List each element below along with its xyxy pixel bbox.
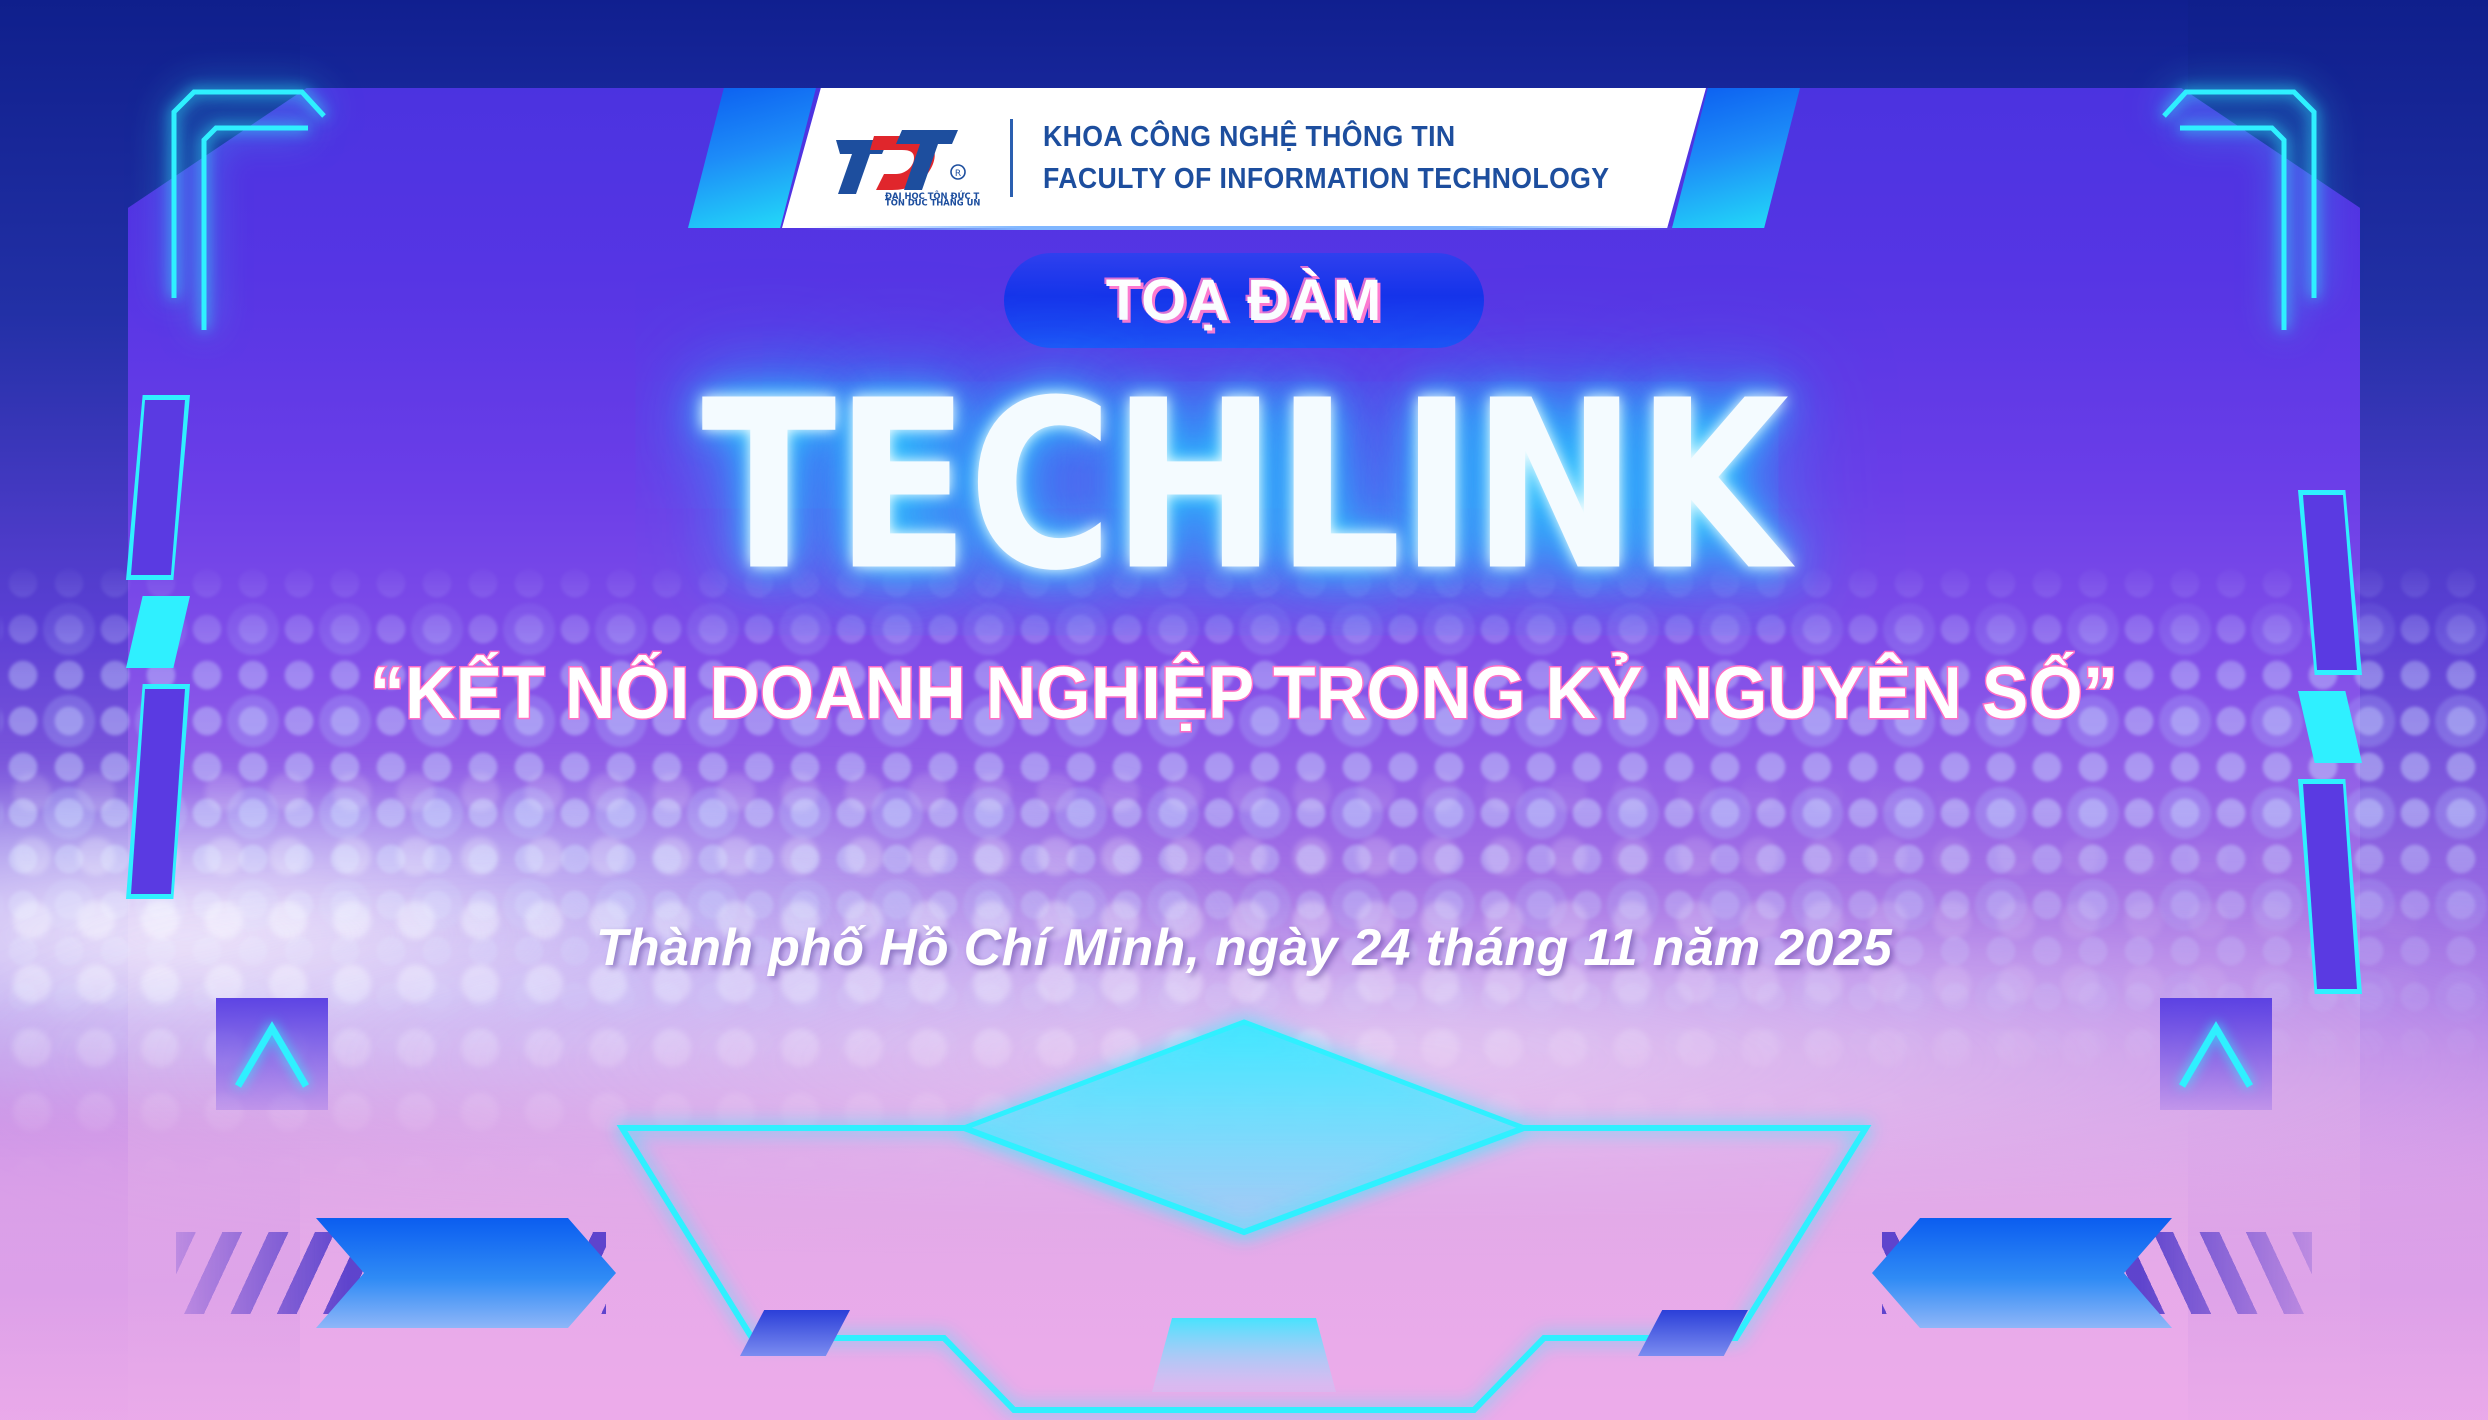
chevron-up-icon-left <box>216 998 328 1110</box>
event-type-badge: TOẠ ĐÀM <box>1004 253 1484 348</box>
logo-name-en: TON DUC THANG UNIVERSITY <box>885 198 980 207</box>
event-title: TECHLINK <box>0 376 2488 596</box>
event-title-text: TECHLINK <box>701 369 1787 602</box>
faculty-name-vi: KHOA CÔNG NGHỆ THÔNG TIN <box>1043 123 1609 152</box>
faculty-name-block: KHOA CÔNG NGHỆ THÔNG TIN FACULTY OF INFO… <box>1043 123 1659 194</box>
logo-divider <box>1010 119 1013 197</box>
chevron-up-icon-right <box>2160 998 2272 1110</box>
arrow-right-icon-left <box>176 1218 616 1328</box>
faculty-name-en: FACULTY OF INFORMATION TECHNOLOGY <box>1043 165 1609 194</box>
event-banner: R ĐẠI HỌC TÔN ĐỨC THẮNG TON DUC THANG UN… <box>0 0 2488 1420</box>
header-panel: R ĐẠI HỌC TÔN ĐỨC THẮNG TON DUC THANG UN… <box>782 88 1706 228</box>
event-date-location-text: Thành phố Hồ Chí Minh, ngày 24 tháng 11 … <box>596 919 1892 977</box>
header-underline <box>804 226 1684 230</box>
event-type-badge-label: TOẠ ĐÀM <box>1106 267 1383 334</box>
header-strip: R ĐẠI HỌC TÔN ĐỨC THẮNG TON DUC THANG UN… <box>0 0 2488 228</box>
hud-geometry <box>594 1000 1894 1420</box>
event-date-location: Thành phố Hồ Chí Minh, ngày 24 tháng 11 … <box>0 918 2488 978</box>
event-subtitle-text: “KẾT NỐI DOANH NGHIỆP TRONG KỶ NGUYÊN SỐ… <box>370 652 2118 735</box>
tdt-logo: R ĐẠI HỌC TÔN ĐỨC THẮNG TON DUC THANG UN… <box>830 110 980 206</box>
arrow-right-icon-right <box>1872 1218 2312 1328</box>
registered-mark: R <box>954 169 960 179</box>
event-subtitle: “KẾT NỐI DOANH NGHIỆP TRONG KỶ NGUYÊN SỐ… <box>0 652 2488 735</box>
